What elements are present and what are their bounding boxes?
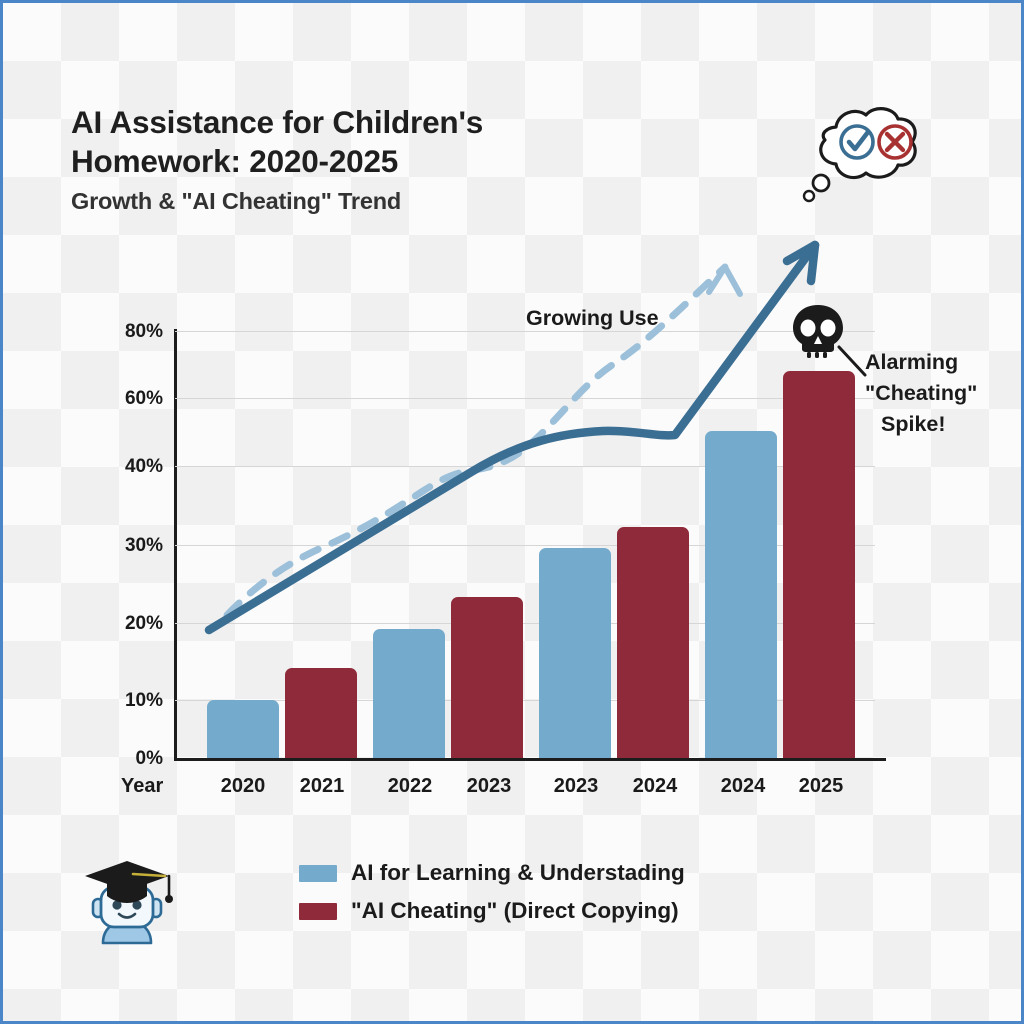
y-tick-label: 20% [91,613,163,635]
legend-label-learning: AI for Learning & Understading [351,860,685,886]
chart-poster: AI Assistance for Children's Homework: 2… [0,0,1024,1024]
page-title-line2: Homework: 2020-2025 [71,142,691,181]
chart-legend: AI for Learning & Understading "AI Cheat… [299,854,685,930]
annotation-growing-use: Growing Use [526,306,659,331]
bar-2023-cheating[interactable] [451,597,523,758]
plot-area [175,331,875,759]
annotation-alarming-line2: "Cheating" [865,378,1015,409]
y-tick-label: 80% [91,321,163,343]
gridline-80 [175,331,875,332]
bar-2022-learning[interactable] [373,629,445,758]
annotation-alarming-line3: Spike! [865,409,1015,440]
annotation-alarming-spike: Alarming "Cheating" Spike! [865,347,1015,440]
bar-2025-cheating[interactable] [783,371,855,758]
legend-item-cheating[interactable]: "AI Cheating" (Direct Copying) [299,892,685,930]
thought-bubble-icon [798,99,923,204]
bar-2024-learning[interactable] [705,431,777,758]
legend-label-cheating: "AI Cheating" (Direct Copying) [351,898,679,924]
bar-2024-cheating[interactable] [617,527,689,758]
y-tick-label: 40% [91,456,163,478]
x-tick-label: 2023 [531,775,621,798]
x-tick-label: 2021 [277,775,367,798]
x-tick-label: 2022 [365,775,455,798]
x-tick-label: 2024 [610,775,700,798]
x-tick-label: 2024 [698,775,788,798]
legend-swatch-learning [299,865,337,882]
legend-swatch-cheating [299,903,337,920]
annotation-alarming-line1: Alarming [865,347,1015,378]
y-tick-label: 30% [91,535,163,557]
page-title-line1: AI Assistance for Children's [71,103,691,142]
gridline-60 [175,398,875,399]
title-block: AI Assistance for Children's Homework: 2… [71,103,691,215]
y-tick-label: 10% [91,690,163,712]
x-tick-labels: 2020 2021 2022 2023 2023 2024 2024 2025 [3,775,1024,809]
y-tick-label: 60% [91,388,163,410]
y-tick-label: 0% [91,748,163,770]
x-tick-label: 2020 [198,775,288,798]
bar-2023-learning[interactable] [539,548,611,758]
bar-2021-cheating[interactable] [285,668,357,758]
skull-icon [789,302,847,360]
page-subtitle: Growth & "AI Cheating" Trend [71,188,691,215]
x-tick-label: 2025 [776,775,866,798]
bar-2020-learning[interactable] [207,700,279,758]
x-tick-label: 2023 [444,775,534,798]
legend-item-learning[interactable]: AI for Learning & Understading [299,854,685,892]
robot-graduate-icon [81,851,173,947]
